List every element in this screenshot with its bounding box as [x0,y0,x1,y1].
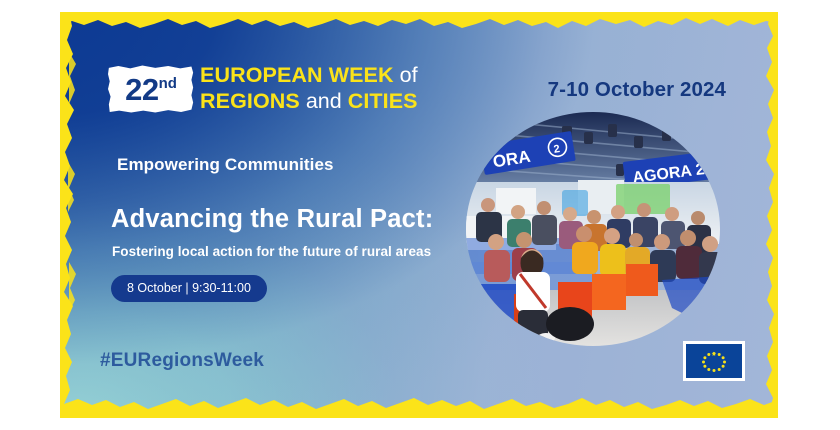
event-date: 7-10 October 2024 [548,78,726,102]
event-hashtag: #EURegionsWeek [100,350,264,372]
edition-ordinal-suffix: nd [159,76,177,91]
eu-stars-icon [686,344,742,378]
event-title-block: EUROPEAN WEEK of REGIONS and CITIES [200,63,418,113]
edition-badge: 22 nd [108,65,194,113]
conference-audience-photo: ORA 2 AGORA 2 [466,112,720,346]
event-logo-lockup: 22 nd EUROPEAN WEEK of REGIONS and CITIE… [108,65,418,113]
screenshot-canvas: 22 nd EUROPEAN WEEK of REGIONS and CITIE… [0,0,840,430]
session-schedule-badge: 8 October | 9:30-11:00 [111,275,267,302]
event-banner: 22 nd EUROPEAN WEEK of REGIONS and CITIE… [60,12,778,418]
event-title-european-week: EUROPEAN WEEK [200,63,394,87]
event-title-cities: CITIES [348,89,418,113]
event-title-line-1: EUROPEAN WEEK of [200,63,418,87]
session-title: Advancing the Rural Pact: [111,205,433,234]
event-title-regions: REGIONS [200,89,300,113]
european-union-flag [683,341,745,381]
event-title-and: and [306,89,342,113]
event-title-line-2: REGIONS and CITIES [200,89,418,113]
session-subtitle: Fostering local action for the future of… [112,244,431,259]
edition-number: 22 [125,74,158,105]
event-title-of: of [400,63,418,87]
event-tagline: Empowering Communities [117,155,334,175]
